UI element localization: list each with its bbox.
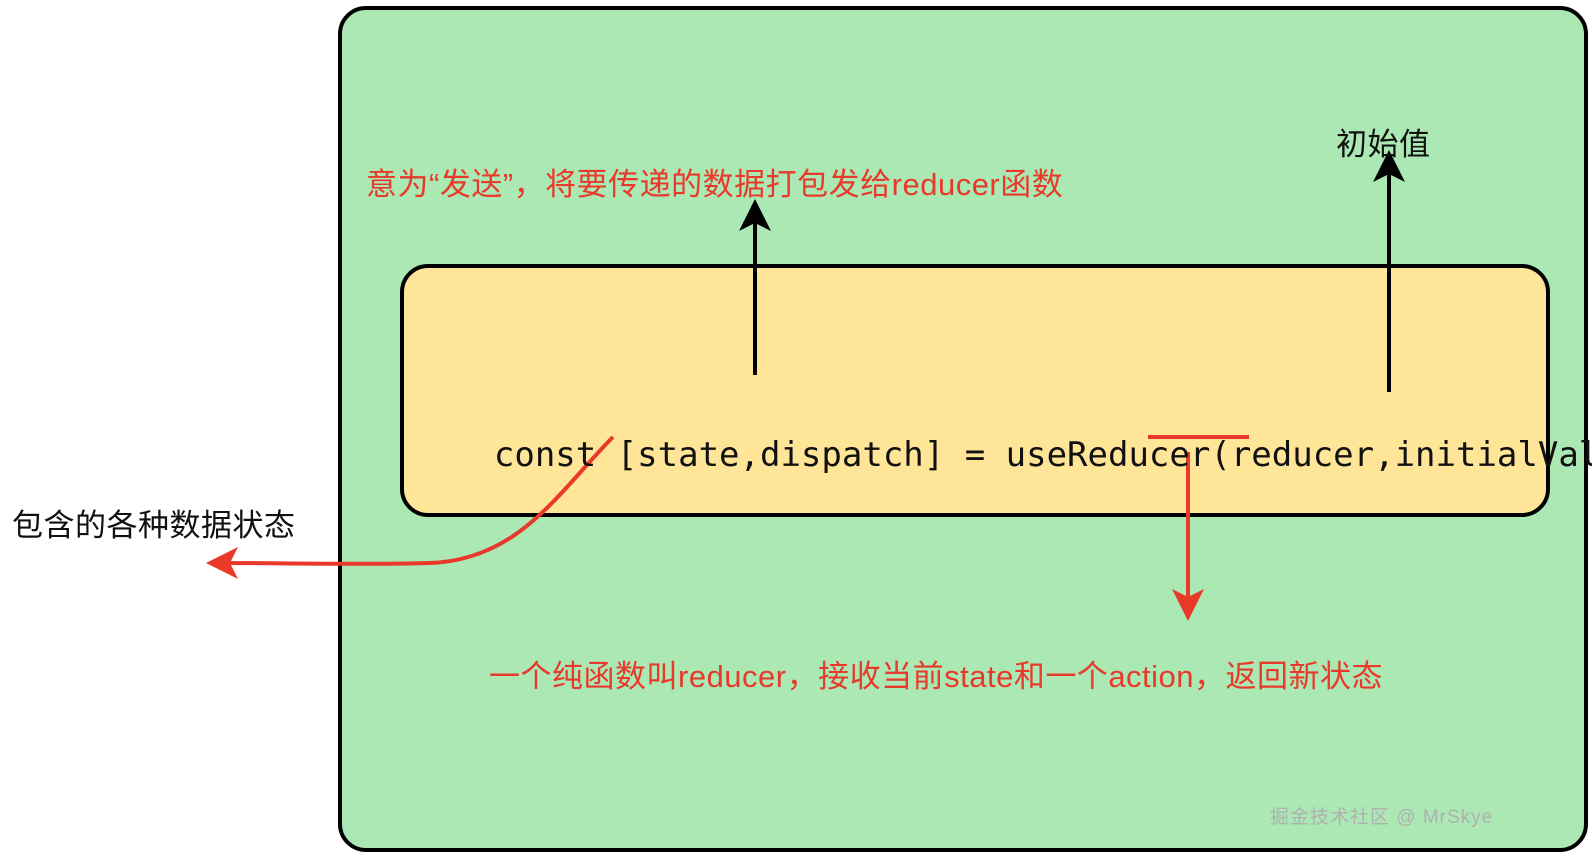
annotation-reducer-note: 一个纯函数叫reducer，接收当前state和一个action，返回新状态	[489, 651, 1383, 696]
annotation-state-note: 包含的各种数据状态	[12, 500, 296, 545]
diagram-canvas: const [state,dispatch] = useReducer(redu…	[0, 0, 1592, 865]
code-line: const [state,dispatch] = useReducer(redu…	[412, 395, 1592, 515]
code-prefix: const [state,dispatch] = useReducer(	[494, 435, 1231, 475]
code-reducer-token: reducer	[1231, 435, 1374, 475]
annotation-initial-value-note: 初始值	[1336, 119, 1431, 164]
code-suffix: ,initialValue)	[1374, 435, 1592, 475]
watermark-text: 掘金技术社区 @ MrSkye	[1270, 802, 1493, 829]
annotation-dispatch-note: 意为“发送”，将要传递的数据打包发给reducer函数	[366, 159, 1063, 204]
